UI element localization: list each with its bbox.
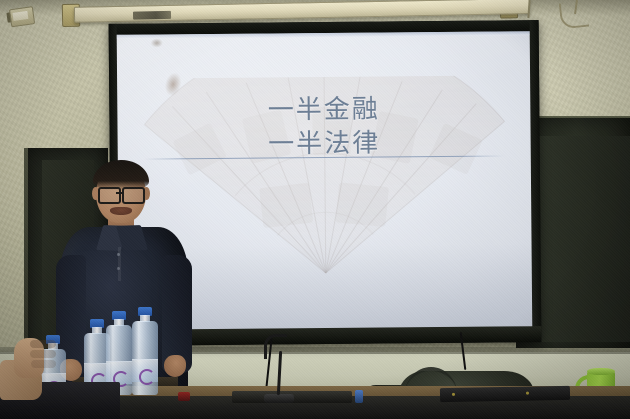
glasses-bridge-icon: [116, 192, 123, 194]
slide-heading-line1: 一半金融: [268, 95, 380, 126]
watering-can-rim: [587, 368, 615, 375]
slide-heading-line2: 一半法律: [118, 125, 531, 163]
small-red-object: [178, 392, 190, 401]
glasses-lens-right-icon: [122, 187, 145, 204]
attendee-hands: [0, 338, 60, 400]
bottle-logo-icon: [139, 369, 155, 385]
microphone-base: [264, 394, 294, 403]
roller-label: [133, 11, 171, 20]
attendee-finger-1: [30, 340, 56, 348]
slide-heading: 一半金融 一半法律: [117, 91, 531, 163]
presenter-shirt-button-1: [117, 253, 120, 256]
attendee-fingers: [14, 338, 44, 378]
attendee-finger-2: [30, 350, 56, 358]
keyboard-led-2: [526, 392, 529, 395]
water-bottle-4: [132, 307, 158, 395]
attendee-finger-3: [31, 360, 56, 368]
screen-stain-secondary: [151, 38, 163, 47]
blackboard-right-surface: [534, 136, 630, 342]
presenter-mouth: [110, 207, 132, 215]
wall-light-icon: [6, 6, 34, 26]
classroom-photo: 一半金融 一半法律: [0, 0, 630, 419]
keyboard-led-1: [452, 393, 455, 396]
gooseneck-microphone[interactable]: [258, 337, 298, 403]
small-blue-object: [355, 390, 363, 403]
presenter-hair: [93, 160, 149, 190]
keyboard[interactable]: [440, 386, 570, 402]
microphone-gooseneck: [264, 334, 287, 359]
glasses-lens-left-icon: [98, 187, 121, 204]
presenter-shirt-button-2: [117, 267, 120, 270]
